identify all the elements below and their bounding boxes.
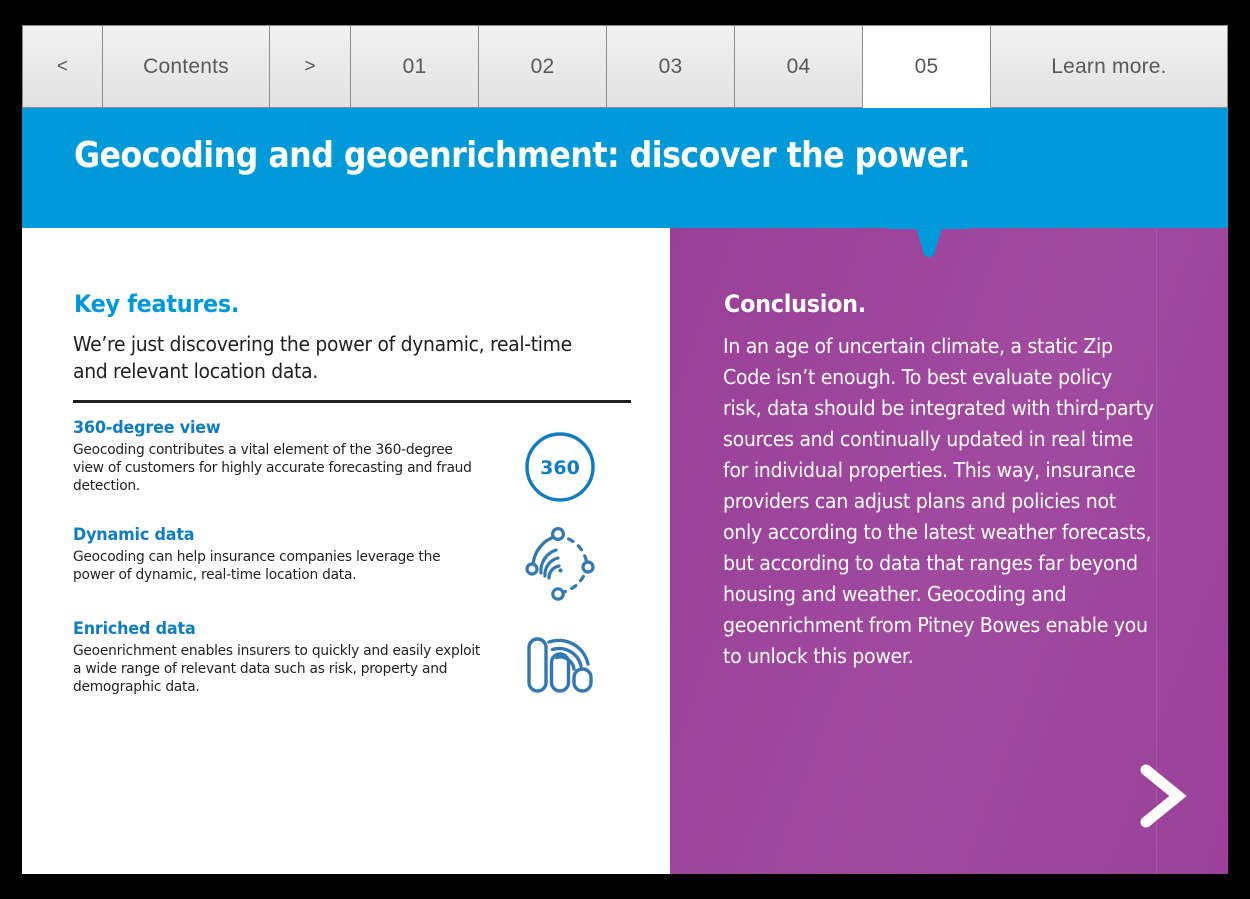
key-features-heading: Key features. — [74, 290, 239, 318]
nav-button-page-02[interactable]: 02 — [479, 25, 607, 108]
nav-button-next[interactable]: > — [270, 25, 351, 108]
nav-button-label: > — [304, 56, 315, 78]
nav-button-contents[interactable]: Contents — [103, 25, 270, 108]
conclusion-heading: Conclusion. — [724, 290, 866, 318]
nav-button-label: Learn more. — [1051, 55, 1166, 79]
key-features-panel: Key features. We’re just discovering the… — [22, 228, 670, 874]
enriched-data-bars-icon — [517, 624, 603, 710]
conclusion-body: In an age of uncertain climate, a static… — [723, 331, 1155, 672]
key-features-subheading: We’re just discovering the power of dyna… — [73, 331, 609, 385]
nav-button-page-01[interactable]: 01 — [351, 25, 479, 108]
dynamic-data-signal-icon — [517, 520, 603, 606]
nav-button-page-03[interactable]: 03 — [607, 25, 735, 108]
feature-body: Geocoding contributes a vital element of… — [73, 441, 482, 495]
banner-notch-pointer — [888, 228, 970, 260]
nav-button-label: Contents — [143, 55, 229, 79]
circle-360-label: 360 — [540, 457, 580, 479]
nav-button-label: 02 — [531, 55, 555, 79]
feature-body: Geocoding can help insurance companies l… — [73, 548, 482, 584]
circle-360-icon: 360 — [517, 424, 603, 510]
title-banner: Geocoding and geoenrichment: discover th… — [22, 108, 1228, 228]
nav-button-label: < — [57, 56, 68, 78]
nav-button-label: 01 — [403, 55, 427, 79]
nav-button-prev[interactable]: < — [22, 25, 103, 108]
nav-button-learn-more[interactable]: Learn more. — [991, 25, 1228, 108]
page-navigation-bar: < Contents > 01 02 03 04 05 Learn more. — [22, 25, 1228, 108]
page-title: Geocoding and geoenrichment: discover th… — [74, 135, 1068, 176]
nav-button-page-05[interactable]: 05 — [863, 25, 991, 108]
nav-button-label: 03 — [659, 55, 683, 79]
conclusion-panel: Conclusion. In an age of uncertain clima… — [670, 228, 1228, 874]
chevron-right-icon[interactable] — [1134, 760, 1192, 832]
nav-button-label: 05 — [915, 55, 939, 79]
feature-body: Geoenrichment enables insurers to quickl… — [73, 642, 482, 696]
nav-button-page-04[interactable]: 04 — [735, 25, 863, 108]
section-divider — [73, 400, 631, 403]
slide-page: < Contents > 01 02 03 04 05 Learn more. … — [0, 0, 1250, 899]
nav-button-label: 04 — [787, 55, 811, 79]
